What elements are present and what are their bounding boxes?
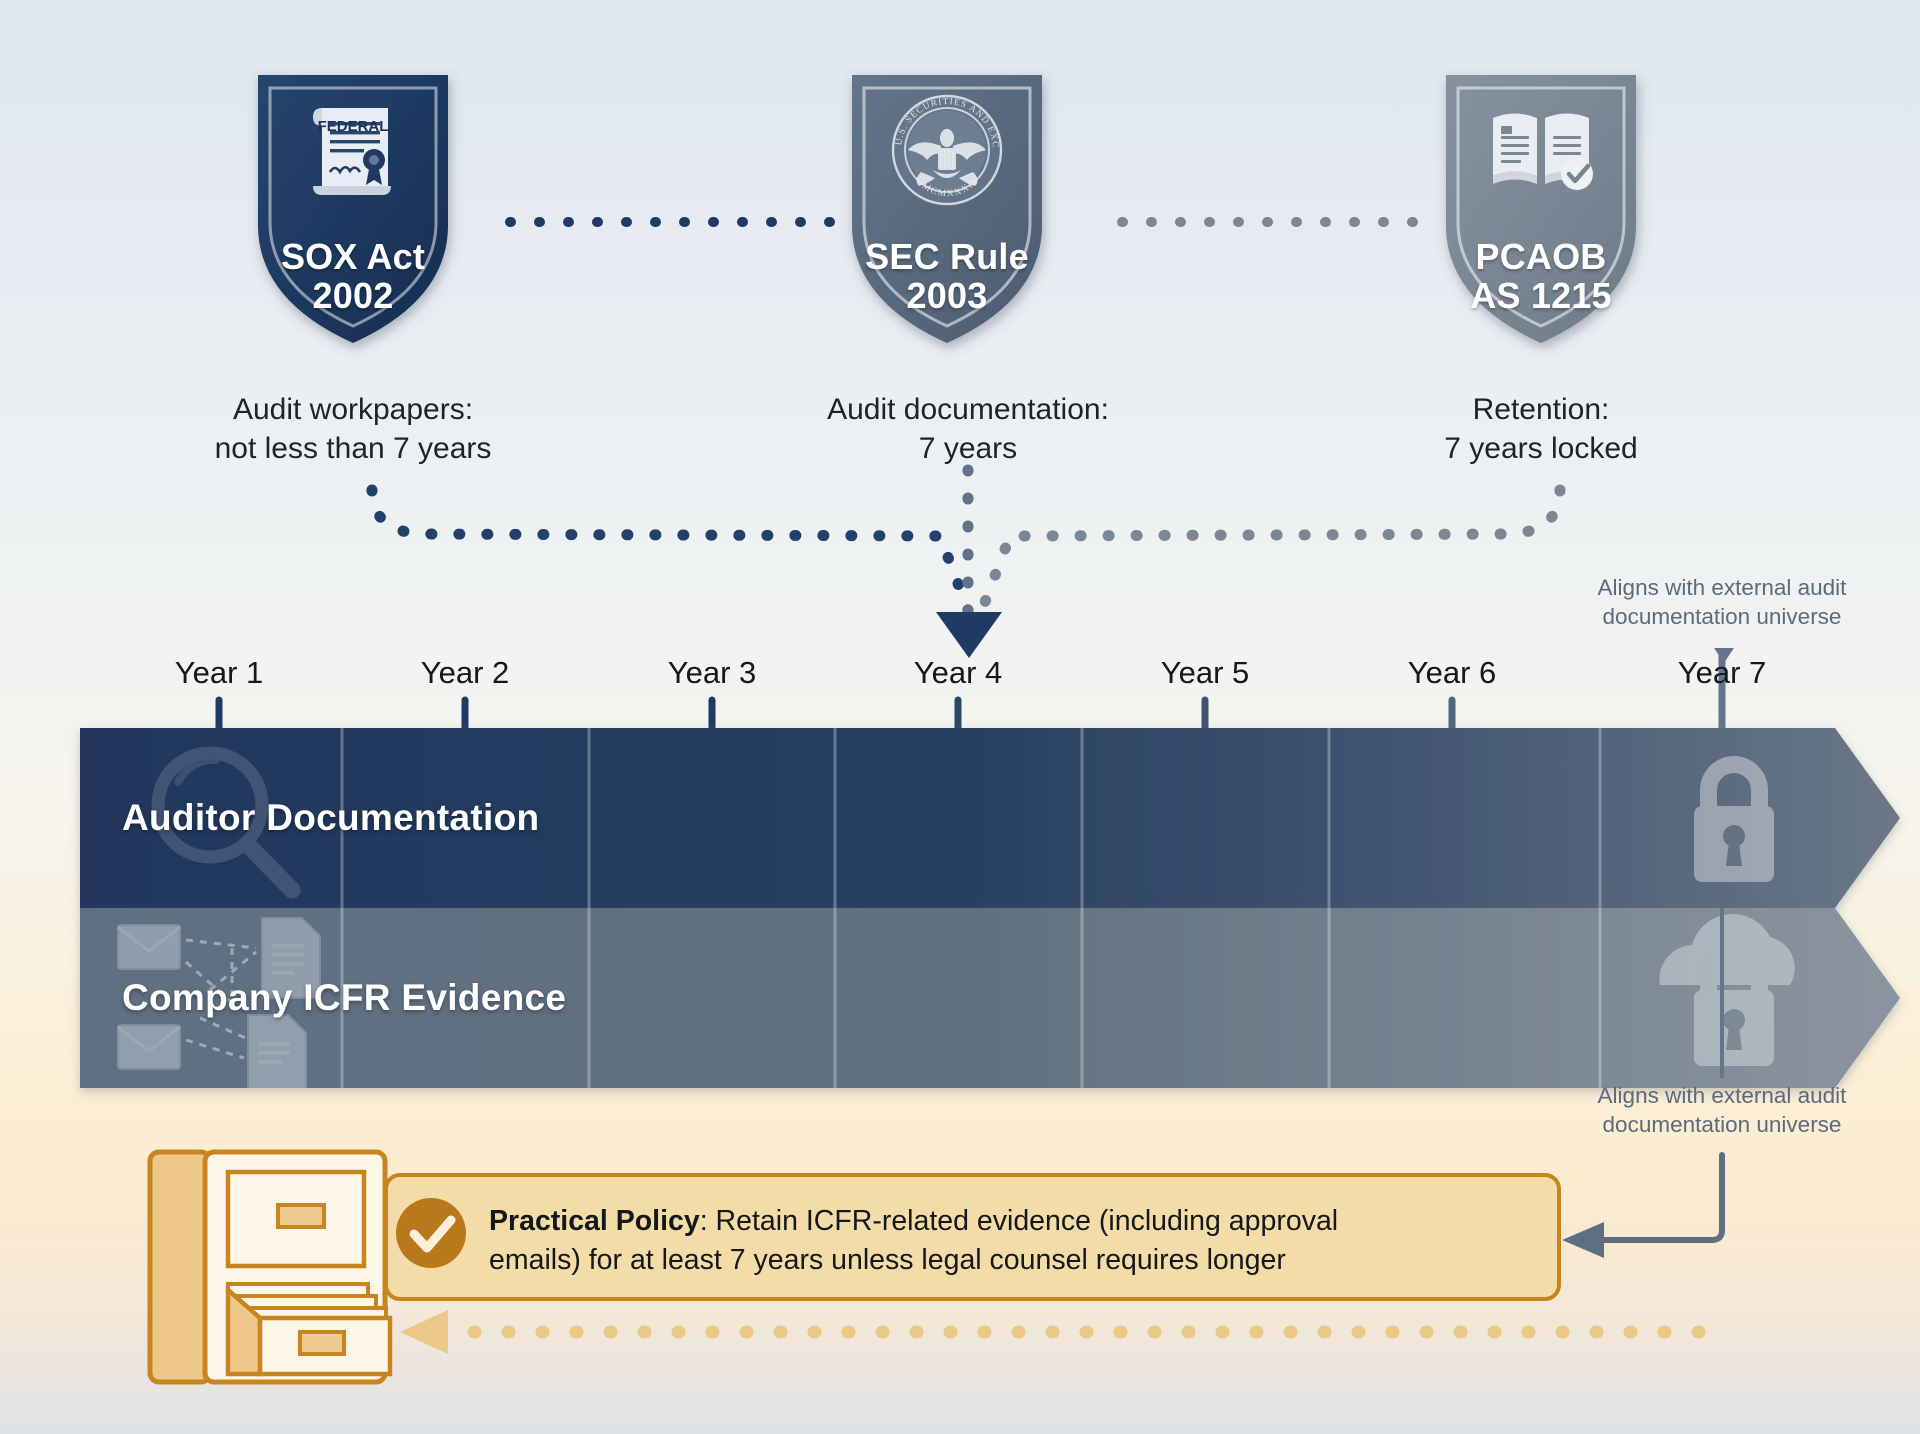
open-book-check-icon	[1493, 114, 1593, 191]
annotation-align-top-line2: documentation universe	[1557, 603, 1887, 632]
policy-separator: :	[700, 1205, 716, 1237]
policy-text-line1: Retain ICFR-related evidence (including …	[716, 1205, 1339, 1237]
year-label-1: Year 1	[119, 655, 319, 691]
caption-sec-line2: 7 years	[748, 429, 1188, 468]
caption-sox-line1: Audit workpapers:	[133, 390, 573, 429]
badge-title-pcaob-line2: AS 1215	[1431, 277, 1651, 316]
policy-text-line2: emails) for at least 7 years unless lega…	[489, 1241, 1539, 1280]
caption-sec: Audit documentation: 7 years	[748, 390, 1188, 468]
annotation-align-top-line1: Aligns with external audit	[1557, 574, 1887, 603]
badge-title-sec-line2: 2003	[837, 277, 1057, 316]
caption-pcaob: Retention: 7 years locked	[1321, 390, 1761, 468]
badge-title-sox: SOX Act 2002	[243, 238, 463, 316]
sec-seal-icon: U.S. SECURITIES AND EXCHANGE COMMISSION …	[892, 95, 1002, 205]
badge-title-sox-line2: 2002	[243, 277, 463, 316]
converge-arrowhead	[936, 612, 1002, 658]
year-label-7: Year 7	[1622, 655, 1822, 691]
infographic-canvas: FEDERAL	[0, 0, 1920, 1434]
certificate-document-icon	[313, 108, 391, 195]
sec-seal-year-text: MCMXXXIV	[920, 174, 982, 199]
badge-title-sec: SEC Rule 2003	[837, 238, 1057, 316]
year-label-6: Year 6	[1352, 655, 1552, 691]
caption-pcaob-line2: 7 years locked	[1321, 429, 1761, 468]
year-label-2: Year 2	[365, 655, 565, 691]
caption-sox: Audit workpapers: not less than 7 years	[133, 390, 573, 468]
bar-label-auditor: Auditor Documentation	[122, 797, 539, 839]
year-label-4: Year 4	[858, 655, 1058, 691]
file-cabinet-icon	[150, 1152, 390, 1382]
year-label-5: Year 5	[1105, 655, 1305, 691]
sec-seal-ring-text: U.S. SECURITIES AND EXCHANGE COMMISSION	[893, 96, 1001, 152]
annotation-align-top: Aligns with external audit documentation…	[1557, 574, 1887, 632]
padlock-icon	[1694, 756, 1774, 882]
caption-sec-line1: Audit documentation:	[748, 390, 1188, 429]
converge-path-sox	[372, 490, 968, 610]
caption-pcaob-line1: Retention:	[1321, 390, 1761, 429]
check-circle-icon	[396, 1198, 466, 1268]
badge-title-pcaob-line1: PCAOB	[1431, 238, 1651, 277]
policy-text: Practical Policy: Retain ICFR-related ev…	[489, 1202, 1539, 1281]
badge-title-sox-line1: SOX Act	[243, 238, 463, 277]
badge-title-sec-line1: SEC Rule	[837, 238, 1057, 277]
annotation-arrow-bottom-elbow	[1562, 1155, 1722, 1258]
policy-return-dotted-arrow	[400, 1310, 1710, 1354]
annotation-align-bottom-line2: documentation universe	[1557, 1111, 1887, 1140]
annotation-align-bottom-line1: Aligns with external audit	[1557, 1082, 1887, 1111]
badge-title-pcaob: PCAOB AS 1215	[1431, 238, 1651, 316]
converge-path-pcaob	[982, 490, 1560, 610]
cloud-padlock-icon	[1659, 914, 1794, 1066]
year-label-3: Year 3	[612, 655, 812, 691]
policy-label: Practical Policy	[489, 1205, 700, 1237]
bar-label-icfr: Company ICFR Evidence	[122, 977, 566, 1019]
annotation-align-bottom: Aligns with external audit documentation…	[1557, 1082, 1887, 1140]
caption-sox-line2: not less than 7 years	[133, 429, 573, 468]
certificate-federal-label: FEDERAL	[318, 118, 389, 135]
